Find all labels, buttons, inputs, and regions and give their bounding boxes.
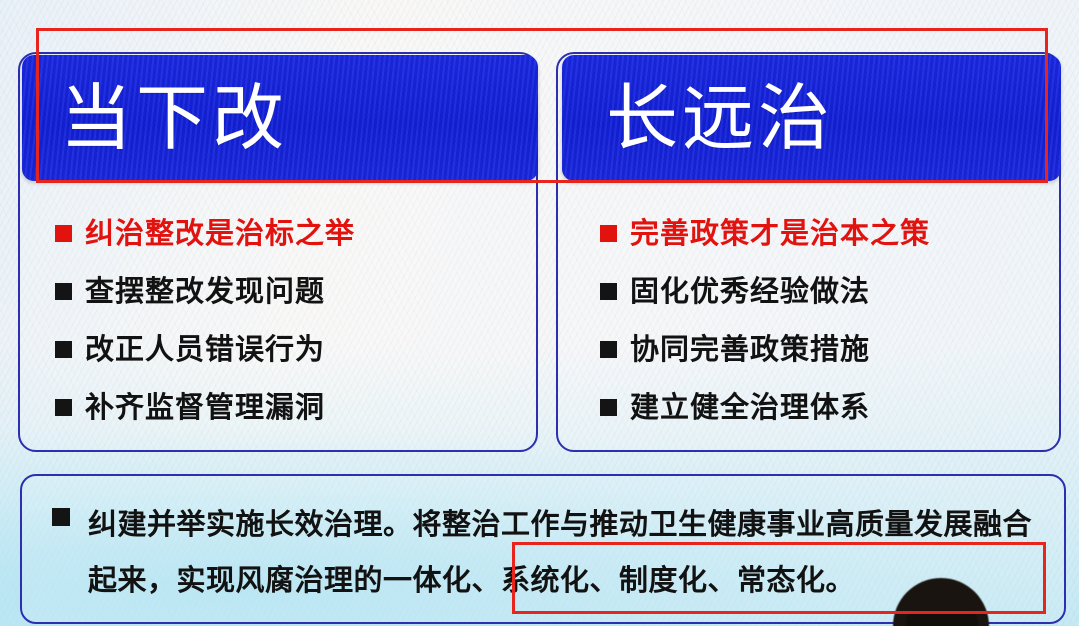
square-bullet-icon <box>55 399 72 416</box>
list-item-label: 完善政策才是治本之策 <box>630 219 930 248</box>
list-item-label: 协同完善政策措施 <box>630 335 870 364</box>
list-item: 协同完善政策措施 <box>600 320 1050 378</box>
square-bullet-icon <box>600 225 617 242</box>
square-bullet-icon <box>55 283 72 300</box>
list-item: 改正人员错误行为 <box>55 320 525 378</box>
person-silhouette-neck <box>906 612 978 626</box>
list-item-label: 建立健全治理体系 <box>630 393 870 422</box>
list-item: 补齐监督管理漏洞 <box>55 378 525 436</box>
list-item-label: 改正人员错误行为 <box>85 335 325 364</box>
square-bullet-icon <box>600 399 617 416</box>
square-bullet-icon <box>600 341 617 358</box>
list-item: 查摆整改发现问题 <box>55 262 525 320</box>
annotation-rect-headings <box>36 28 1048 183</box>
square-bullet-icon <box>55 341 72 358</box>
list-item-label: 查摆整改发现问题 <box>85 277 325 306</box>
list-item: 完善政策才是治本之策 <box>600 204 1050 262</box>
square-bullet-icon <box>600 283 617 300</box>
square-bullet-icon <box>52 508 70 526</box>
annotation-rect-key-phrase <box>512 542 1046 614</box>
list-item-label: 纠治整改是治标之举 <box>85 219 355 248</box>
list-item: 建立健全治理体系 <box>600 378 1050 436</box>
list-item-label: 补齐监督管理漏洞 <box>85 393 325 422</box>
list-item: 固化优秀经验做法 <box>600 262 1050 320</box>
slide-canvas: 当下改 纠治整改是治标之举 查摆整改发现问题 改正人员错误行为 补齐监督管理漏洞… <box>0 0 1079 626</box>
list-item-label: 固化优秀经验做法 <box>630 277 870 306</box>
square-bullet-icon <box>55 225 72 242</box>
bullet-list-current-fix: 纠治整改是治标之举 查摆整改发现问题 改正人员错误行为 补齐监督管理漏洞 <box>55 204 525 436</box>
list-item: 纠治整改是治标之举 <box>55 204 525 262</box>
bullet-list-long-term-governance: 完善政策才是治本之策 固化优秀经验做法 协同完善政策措施 建立健全治理体系 <box>600 204 1050 436</box>
